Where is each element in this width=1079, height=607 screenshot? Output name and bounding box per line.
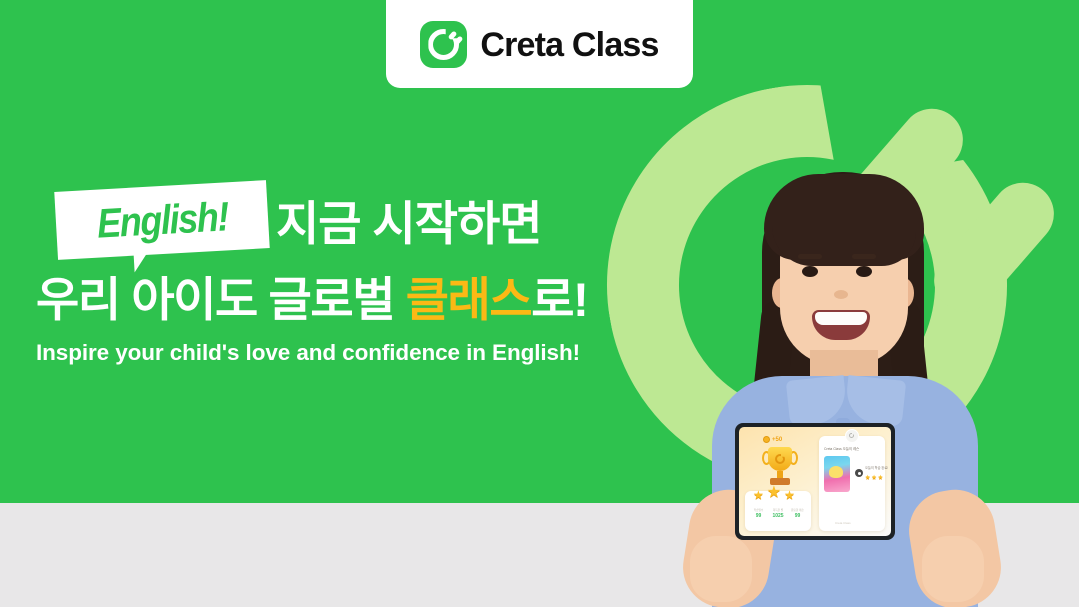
star-icon-1: ★ xyxy=(865,475,870,481)
lesson-status-icon xyxy=(855,469,863,477)
creta-c-mark-icon xyxy=(420,21,467,68)
star-icon-1: ★ xyxy=(753,489,764,501)
stats-card: ★ ★ ★ 학습일수 99 획득한 별 1025 xyxy=(745,491,811,531)
english-bubble-label: English! xyxy=(95,196,228,244)
tablet-screen: +50 ★ ★ ★ xyxy=(739,427,891,536)
brand-logo-card[interactable]: Creta Class xyxy=(386,0,693,88)
brand-logo: Creta Class xyxy=(420,21,658,68)
lesson-title: Creta Class 오늘의 레슨 xyxy=(824,447,859,451)
stat-row: 학습일수 99 획득한 별 1025 완료한 레슨 99 xyxy=(749,509,807,519)
headline-line-2-part-b: 로! xyxy=(531,273,587,326)
eyebrow-left xyxy=(798,254,822,259)
stat-item: 획득한 별 1025 xyxy=(769,509,788,519)
star-icon-3: ★ xyxy=(784,489,795,501)
headline-line-2: 우리 아이도 글로벌 클래스로! xyxy=(36,272,636,328)
eye-right xyxy=(856,266,872,277)
trophy-icon xyxy=(761,447,799,489)
star-rating: ★ ★ ★ xyxy=(753,485,795,501)
star-icon-3: ★ xyxy=(878,475,883,481)
coin-amount: +50 xyxy=(772,437,782,443)
achievement-panel: +50 ★ ★ ★ xyxy=(739,427,815,536)
stat-item: 학습일수 99 xyxy=(749,509,768,519)
hair-fringe xyxy=(764,174,924,260)
english-speech-bubble: English! xyxy=(54,180,269,260)
stat-value: 99 xyxy=(749,513,768,520)
headline-line-2-part-a: 우리 아이도 글로벌 xyxy=(36,273,406,326)
headline-line-2-highlight: 클래스 xyxy=(406,273,532,326)
nose xyxy=(834,290,848,299)
brand-name: Creta Class xyxy=(480,28,658,62)
hero-subtitle: Inspire your child's love and confidence… xyxy=(36,340,636,366)
stat-item: 완료한 레슨 99 xyxy=(788,509,807,519)
stat-value: 1025 xyxy=(769,513,788,520)
star-icon-2: ★ xyxy=(767,485,781,501)
lesson-meta-text: 오늘의 학습 완료! xyxy=(865,466,888,471)
headline-line-1: English! 지금 시작하면 xyxy=(36,186,636,270)
coin-reward: +50 xyxy=(763,436,782,443)
tablet-device: +50 ★ ★ ★ xyxy=(735,423,895,540)
creta-class-hero-banner: Creta Class English! 지금 시작하면 우리 아이도 글로벌 … xyxy=(0,0,1079,607)
lesson-footer-brand: Creta Class xyxy=(835,521,851,525)
hero-copy: English! 지금 시작하면 우리 아이도 글로벌 클래스로! Inspir… xyxy=(36,186,636,366)
creta-badge-icon xyxy=(845,429,859,443)
eyebrow-right xyxy=(852,254,876,259)
hand-left xyxy=(690,536,752,602)
stat-value: 99 xyxy=(788,513,807,520)
star-icon-2: ★ xyxy=(871,475,876,481)
eye-left xyxy=(802,266,818,277)
coin-icon xyxy=(763,436,770,443)
speech-bubble-tail-icon xyxy=(133,250,150,273)
lesson-panel: Creta Class 오늘의 레슨 오늘의 학습 완료! ★ ★ ★ Cret… xyxy=(815,427,891,536)
hand-right xyxy=(922,536,984,602)
lesson-thumbnail xyxy=(824,456,850,492)
lesson-card[interactable]: Creta Class 오늘의 레슨 오늘의 학습 완료! ★ ★ ★ Cret… xyxy=(819,436,885,531)
headline-line-1-text: 지금 시작하면 xyxy=(276,196,542,252)
lesson-star-rating: ★ ★ ★ xyxy=(865,475,883,481)
